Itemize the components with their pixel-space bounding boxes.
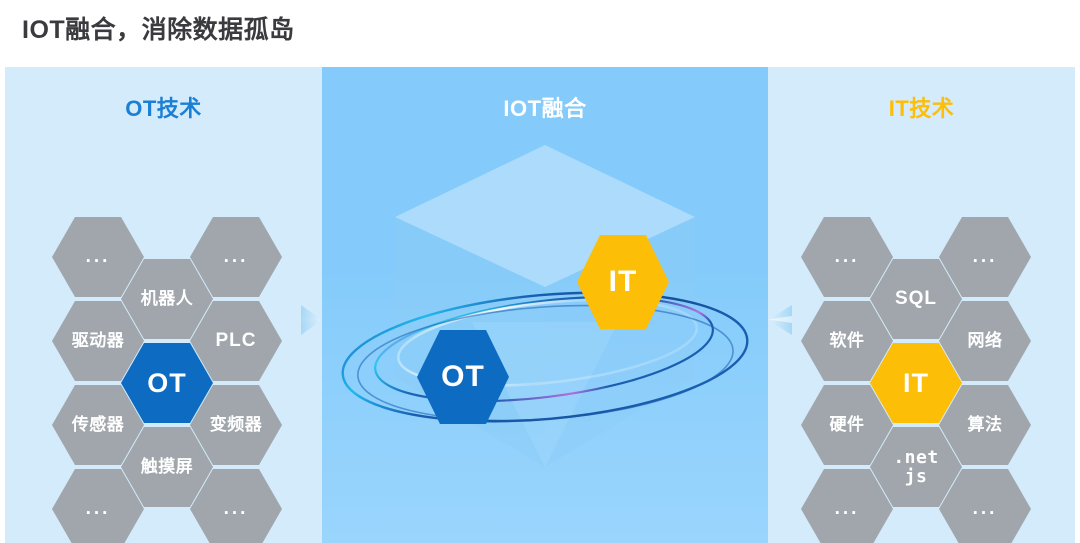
core-node-label: IT <box>609 265 638 299</box>
diagram-banner: OT技术 ... 驱动器 传感器 ... 机器人 OT 触摸屏 ... PLC … <box>5 67 1075 543</box>
orbital-rings <box>322 67 768 543</box>
arrow-ot-to-iot <box>5 67 322 543</box>
page-title: IOT融合，消除数据孤岛 <box>22 10 295 46</box>
panel-ot-technology: OT技术 ... 驱动器 传感器 ... 机器人 OT 触摸屏 ... PLC … <box>5 67 322 543</box>
core-node-label: OT <box>441 360 485 394</box>
panel-it-technology: IT技术 ... 软件 硬件 ... SQL IT .net js ... 网络… <box>768 67 1075 543</box>
panel-iot-fusion: IOT融合 <box>322 67 768 543</box>
arrow-it-to-iot <box>768 67 1075 543</box>
iot-stage: OT IT <box>322 67 768 543</box>
